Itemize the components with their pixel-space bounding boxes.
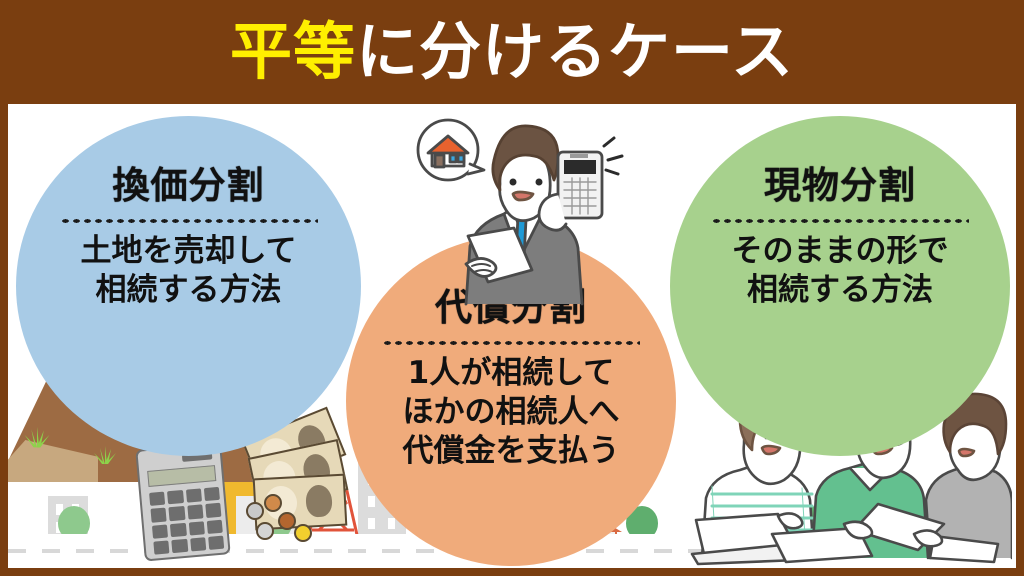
card-genbutsu-text: 現物分割 そのままの形で 相続する方法 [670,164,1010,310]
title-highlight: 平等 [230,15,356,88]
content-panel: 売地 連絡先 ●●不動産 ☎000-000-0000 [8,104,1016,568]
grass-icon [90,444,120,464]
grass-icon [20,424,50,444]
frame-left [0,104,8,576]
card-daisho-text: 代償分割 1人が相続して ほかの相続人へ 代償金を支払う [346,286,676,471]
divider-dots [382,340,640,346]
card-kanka-heading: 換価分割 [16,164,361,208]
frame-right [1016,104,1024,576]
card-genbutsu-line-2: 相続する方法 [670,271,1010,310]
card-kanka-line-2: 相続する方法 [16,271,361,310]
card-daisho-line-3: 代償金を支払う [346,432,676,471]
title-rest: に分けるケース [356,15,794,88]
card-kanka-text: 換価分割 土地を売却して 相続する方法 [16,164,361,310]
coin-icon [246,502,264,520]
divider-dots [60,218,318,224]
infographic-root: 平等に分けるケース [0,0,1024,576]
header-bar: 平等に分けるケース [0,0,1024,104]
divider-dots [711,218,969,224]
card-genbutsu-line-1: そのままの形で [670,232,1010,271]
card-daisho-line-1: 1人が相続して [346,354,676,393]
card-kanka-bunkatsu[interactable]: 換価分割 土地を売却して 相続する方法 [16,116,361,456]
businessman-illustration [408,108,628,308]
card-daisho-line-2: ほかの相続人へ [346,393,676,432]
card-genbutsu-bunkatsu[interactable]: 現物分割 そのままの形で 相続する方法 [670,116,1010,456]
coin-icon [278,512,296,530]
card-genbutsu-heading: 現物分割 [670,164,1010,208]
coin-icon [294,524,312,542]
page-title: 平等に分けるケース [230,21,794,83]
card-kanka-line-1: 土地を売却して [16,232,361,271]
frame-bottom [0,568,1024,576]
coin-icon [256,522,274,540]
coin-icon [264,494,282,512]
calculator-icon [135,442,230,561]
